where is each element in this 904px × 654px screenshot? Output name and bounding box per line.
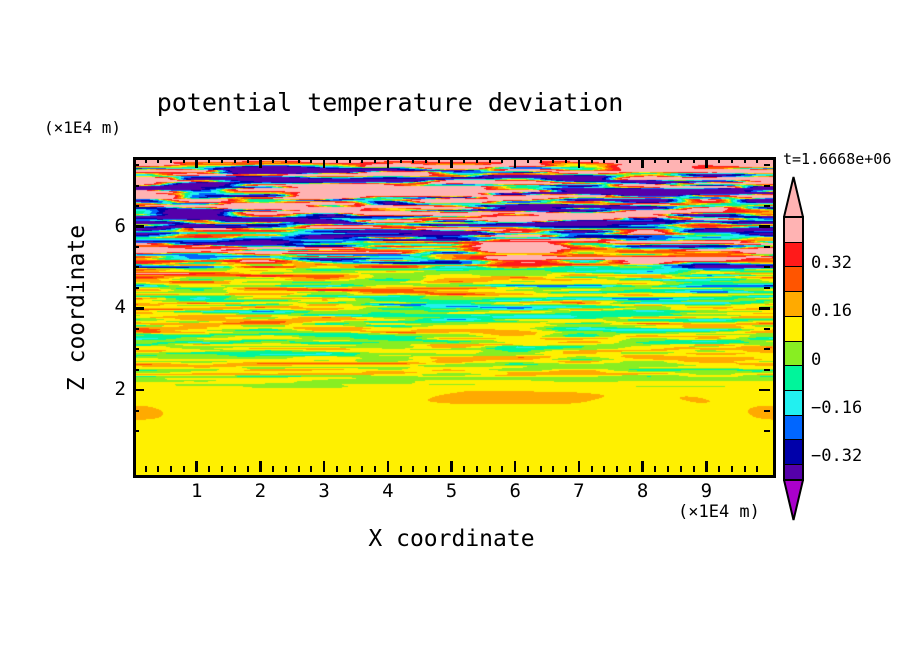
y-tick-label: 6 [100,215,126,237]
colorbar-band [785,366,802,391]
tick-mark [247,157,249,163]
colorbar-band [785,391,802,416]
tick-mark [208,157,210,163]
y-tick-label: 2 [100,378,126,400]
tick-mark [693,157,695,163]
x-axis-units-label: (×1E4 m) [678,502,760,522]
y-tick-label: 4 [100,296,126,318]
colorbar-bands [783,216,804,481]
tick-mark [183,466,185,472]
tick-mark [463,157,465,163]
colorbar-band [785,267,802,292]
tick-mark [764,185,770,187]
tick-mark [718,157,720,163]
tick-mark [463,466,465,472]
tick-mark [133,328,139,330]
tick-mark [667,157,669,163]
tick-mark [756,157,758,163]
tick-mark [552,157,554,163]
tick-mark [501,466,503,472]
tick-mark [764,328,770,330]
x-tick-label: 2 [245,480,275,502]
tick-mark [629,466,631,472]
tick-mark [552,466,554,472]
tick-mark [764,430,770,432]
tick-mark [744,157,746,163]
tick-mark [616,157,618,163]
colorbar-arrow-top-icon [783,176,804,218]
tick-mark [565,157,567,163]
tick-mark [133,348,139,350]
tick-mark [744,466,746,472]
tick-mark [603,157,605,163]
tick-mark [374,157,376,163]
tick-mark [476,466,478,472]
tick-mark [133,205,139,207]
tick-mark [489,157,491,163]
tick-mark [157,157,159,163]
tick-mark [387,157,390,168]
tick-mark [323,157,326,168]
tick-mark [764,410,770,412]
colorbar-band [785,243,802,268]
z-axis-units-label: (×1E4 m) [44,118,121,137]
colorbar-band [785,416,802,441]
tick-mark [764,348,770,350]
tick-mark [425,466,427,472]
colorbar: 0.320.160−0.16−0.32 [783,176,804,521]
tick-mark [285,157,287,163]
colorbar-band [785,342,802,367]
tick-mark [221,466,223,472]
tick-mark [578,461,581,472]
x-tick-label: 4 [373,480,403,502]
tick-mark [514,461,517,472]
tick-mark [450,157,453,168]
tick-mark [629,157,631,163]
x-axis-label: X coordinate [133,526,770,552]
tick-mark [438,157,440,163]
tick-mark [764,369,770,371]
tick-mark [667,466,669,472]
tick-mark [438,466,440,472]
x-tick-label: 1 [182,480,212,502]
tick-mark [764,266,770,268]
tick-mark [349,157,351,163]
tick-mark [310,157,312,163]
tick-mark [705,461,708,472]
tick-mark [501,157,503,163]
tick-mark [425,157,427,163]
tick-mark [374,466,376,472]
x-tick-label: 8 [628,480,658,502]
figure-root: potential temperature deviation (×1E4 m)… [0,0,904,654]
y-axis-label: Z coordinate [64,208,90,408]
tick-mark [450,461,453,472]
tick-mark [145,157,147,163]
tick-mark [731,157,733,163]
colorbar-band [785,292,802,317]
temperature-deviation-field [136,160,773,475]
tick-mark [195,157,198,168]
colorbar-band [785,218,802,243]
x-tick-label: 9 [691,480,721,502]
tick-mark [718,466,720,472]
tick-mark [764,164,770,166]
colorbar-band [785,317,802,342]
contour-plot-area [133,157,776,478]
tick-mark [247,466,249,472]
tick-mark [764,246,770,248]
tick-mark [133,185,139,187]
tick-mark [133,389,144,392]
tick-mark [133,430,139,432]
tick-mark [731,466,733,472]
tick-mark [170,157,172,163]
tick-mark [133,225,144,228]
tick-mark [272,466,274,472]
tick-mark [540,157,542,163]
tick-mark [133,266,139,268]
tick-mark [145,466,147,472]
x-tick-label: 7 [564,480,594,502]
tick-mark [578,157,581,168]
tick-mark [298,466,300,472]
tick-mark [680,466,682,472]
tick-mark [285,466,287,472]
tick-mark [361,466,363,472]
tick-mark [400,466,402,472]
tick-mark [208,466,210,472]
colorbar-tick-label: 0.16 [811,301,852,321]
colorbar-tick-label: 0.32 [811,253,852,273]
tick-mark [310,466,312,472]
tick-mark [591,157,593,163]
tick-mark [183,157,185,163]
tick-mark [336,466,338,472]
tick-mark [336,157,338,163]
tick-mark [514,157,517,168]
tick-mark [764,205,770,207]
tick-mark [705,157,708,168]
tick-mark [412,157,414,163]
tick-mark [259,461,262,472]
tick-mark [323,461,326,472]
tick-mark [133,369,139,371]
colorbar-band [785,440,802,465]
tick-mark [133,307,144,310]
tick-mark [221,157,223,163]
tick-mark [616,466,618,472]
tick-mark [387,461,390,472]
colorbar-tick-label: −0.32 [811,446,862,466]
tick-mark [133,410,139,412]
tick-mark [756,466,758,472]
tick-mark [195,461,198,472]
tick-mark [654,157,656,163]
tick-mark [476,157,478,163]
tick-mark [654,466,656,472]
x-tick-label: 6 [500,480,530,502]
tick-mark [641,157,644,168]
tick-mark [489,466,491,472]
tick-mark [400,157,402,163]
tick-mark [361,157,363,163]
tick-mark [540,466,542,472]
tick-mark [591,466,593,472]
tick-mark [641,461,644,472]
colorbar-tick-label: −0.16 [811,398,862,418]
tick-mark [349,466,351,472]
colorbar-tick-label: 0 [811,350,821,370]
x-tick-label: 3 [309,480,339,502]
tick-mark [298,157,300,163]
tick-mark [693,466,695,472]
colorbar-arrow-bottom-icon [783,479,804,521]
tick-mark [234,466,236,472]
tick-mark [764,287,770,289]
tick-mark [603,466,605,472]
tick-mark [412,466,414,472]
tick-mark [759,225,770,228]
tick-mark [234,157,236,163]
tick-mark [759,307,770,310]
tick-mark [133,287,139,289]
tick-mark [259,157,262,168]
x-tick-label: 5 [437,480,467,502]
tick-mark [565,466,567,472]
tick-mark [680,157,682,163]
tick-mark [133,246,139,248]
time-annotation: t=1.6668e+06 [783,150,891,168]
tick-mark [170,466,172,472]
tick-mark [133,164,139,166]
tick-mark [527,466,529,472]
tick-mark [157,466,159,472]
tick-mark [527,157,529,163]
page-title: potential temperature deviation [0,88,780,117]
tick-mark [759,389,770,392]
tick-mark [272,157,274,163]
